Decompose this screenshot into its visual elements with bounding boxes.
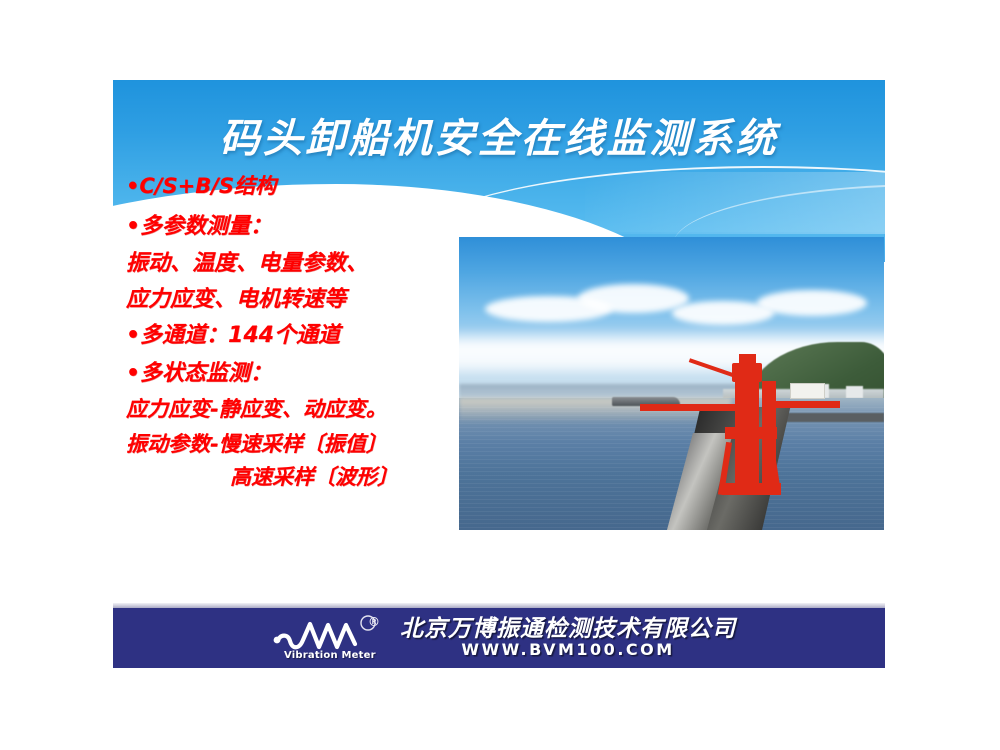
list-item: 应力应变、电机转速等 [126,289,486,311]
company-identity: 北京万博振通检测技术有限公司 WWW.BVM100.COM [400,617,736,659]
footer-content: ® Vibration Meter 北京万博振通检测技术有限公司 WWW.BVM… [272,614,736,662]
list-item: •多状态监测： [126,363,486,385]
photo-cloud [578,284,689,313]
presentation-slide: 码头卸船机安全在线监测系统 •C/S+B/S结构 •多参数测量： 振动、温度、电… [113,80,885,669]
crane-machine-house [725,427,777,439]
list-item: 振动参数-慢速采样〔振值〕 [126,434,486,455]
vibration-wave-logo-icon: ® Vibration Meter [272,614,388,662]
slide-title: 码头卸船机安全在线监测系统 [113,106,885,164]
company-website: WWW.BVM100.COM [461,642,674,659]
photo-building [846,386,863,398]
list-item: •C/S+B/S结构 [126,176,486,197]
list-item: 应力应变-静应变、动应变。 [126,399,486,420]
list-item: •多参数测量： [126,216,486,238]
crane-boom-left [640,404,735,411]
bullet-list: •C/S+B/S结构 •多参数测量： 振动、温度、电量参数、 应力应变、电机转速… [126,176,486,488]
list-item: 振动、温度、电量参数、 [126,253,486,275]
crane-boom-right [776,401,840,408]
company-name: 北京万博振通检测技术有限公司 [400,617,736,641]
slide-page: 码头卸船机安全在线监测系统 •C/S+B/S结构 •多参数测量： 振动、温度、电… [0,0,1000,750]
crane-signboard [790,383,826,398]
footer-bar: ® Vibration Meter 北京万博振通检测技术有限公司 WWW.BVM… [113,608,885,668]
crane-base [722,483,780,495]
photo-cloud [757,290,868,316]
port-ship-unloader-crane-photo [459,237,884,530]
logo-wordmark: Vibration Meter [284,650,376,661]
registered-trademark-icon: ® [368,616,380,628]
slide-header-light-wedge [585,172,885,234]
list-item: •多通道：144个通道 [126,325,486,347]
photo-crane [695,360,848,507]
crane-head [732,363,763,382]
list-item: 高速采样〔波形〕 [126,467,486,488]
